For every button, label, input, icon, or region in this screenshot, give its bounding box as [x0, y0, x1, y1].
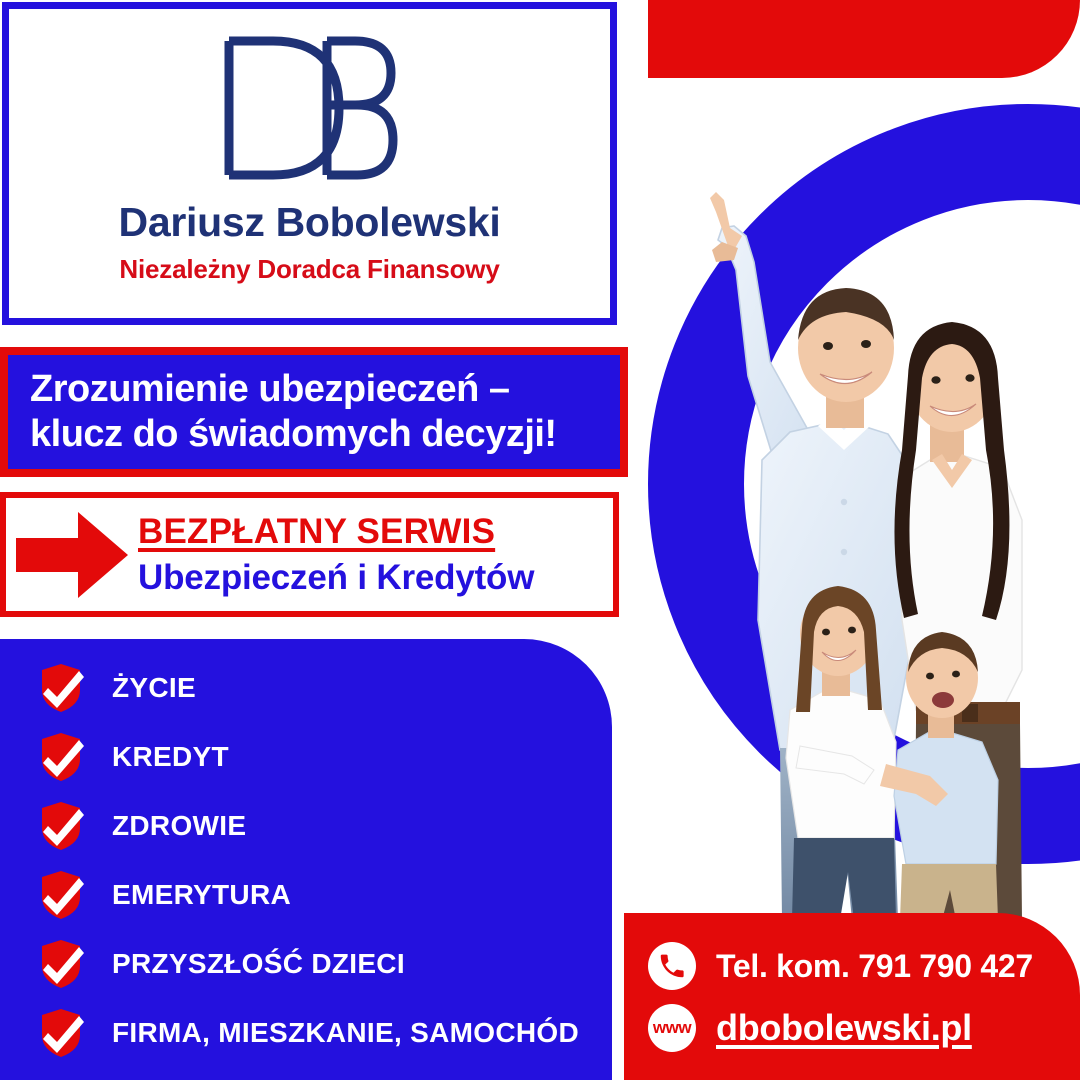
benefit-item-emerytura: EMERYTURA	[0, 860, 612, 929]
right-arrow-icon	[6, 512, 138, 598]
benefit-item-firma-mieszkanie-samochod: FIRMA, MIESZKANIE, SAMOCHÓD	[0, 998, 612, 1067]
free-service-box: BEZPŁATNY SERWIS Ubezpieczeń i Kredytów	[0, 492, 619, 617]
logo-name: Dariusz Bobolewski	[119, 202, 501, 243]
headline-line-1: Zrozumienie ubezpieczeń –	[30, 367, 620, 412]
benefit-item-kredyt: KREDYT	[0, 722, 612, 791]
www-icon: www	[648, 1004, 696, 1052]
phone-number: Tel. kom. 791 790 427	[716, 948, 1033, 985]
benefits-panel: ŻYCIE KREDYT ZDROWIE	[0, 639, 612, 1080]
service-title: BEZPŁATNY SERWIS	[138, 511, 534, 552]
benefit-item-zycie: ŻYCIE	[0, 653, 612, 722]
benefit-label: PRZYSZŁOŚĆ DZIECI	[112, 948, 405, 980]
shield-check-icon	[38, 732, 84, 782]
website-url[interactable]: dbobolewski.pl	[716, 1007, 972, 1049]
headline-box: Zrozumienie ubezpieczeń – klucz do świad…	[0, 347, 628, 477]
benefit-item-przyszlosc-dzieci: PRZYSZŁOŚĆ DZIECI	[0, 929, 612, 998]
contact-phone-row[interactable]: Tel. kom. 791 790 427	[648, 935, 1080, 997]
headline-line-2: klucz do świadomych decyzji!	[30, 412, 620, 457]
benefit-label: ZDROWIE	[112, 810, 246, 842]
logo-card: Dariusz Bobolewski Niezależny Doradca Fi…	[2, 2, 617, 325]
benefit-item-zdrowie: ZDROWIE	[0, 791, 612, 860]
shield-check-icon	[38, 870, 84, 920]
phone-icon	[648, 942, 696, 990]
service-text-group: BEZPŁATNY SERWIS Ubezpieczeń i Kredytów	[138, 511, 534, 599]
contact-panel: Tel. kom. 791 790 427 www dbobolewski.pl	[624, 913, 1080, 1080]
contact-website-row[interactable]: www dbobolewski.pl	[648, 997, 1080, 1059]
benefit-label: FIRMA, MIESZKANIE, SAMOCHÓD	[112, 1017, 579, 1049]
www-glyph: www	[653, 1018, 691, 1038]
shield-check-icon	[38, 1008, 84, 1058]
logo-subtitle: Niezależny Doradca Finansowy	[119, 256, 499, 282]
db-monogram-icon	[215, 33, 405, 188]
shield-check-icon	[38, 801, 84, 851]
benefit-label: ŻYCIE	[112, 672, 196, 704]
shield-check-icon	[38, 663, 84, 713]
shield-check-icon	[38, 939, 84, 989]
poster-canvas: Dariusz Bobolewski Niezależny Doradca Fi…	[0, 0, 1080, 1080]
service-subtitle: Ubezpieczeń i Kredytów	[138, 557, 534, 598]
family-photo	[630, 150, 1080, 920]
benefit-label: EMERYTURA	[112, 879, 291, 911]
benefit-label: KREDYT	[112, 741, 229, 773]
top-red-bar	[624, 0, 1080, 78]
